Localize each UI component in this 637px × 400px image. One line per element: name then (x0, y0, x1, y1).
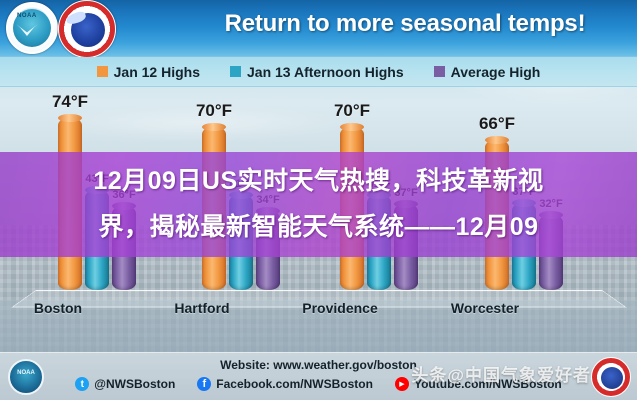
weather-graphic: NOAA Return to more seasonal temps! Jan … (0, 0, 637, 400)
legend-label: Average High (451, 64, 541, 80)
axis-label-boston: Boston (34, 300, 82, 316)
watermark: 头条@中国气象爱好者 (411, 361, 591, 386)
noaa-logo-text: NOAA (17, 13, 37, 20)
bar-cap (485, 136, 509, 144)
bar-value: 66°F (479, 114, 515, 134)
nws-logo (58, 0, 116, 58)
facebook-icon (197, 377, 211, 391)
header-banner: NOAA Return to more seasonal temps! (0, 0, 637, 57)
bar-cap (202, 123, 226, 131)
axis-label-hartford: Hartford (174, 300, 229, 316)
social-link-twitter[interactable]: @NWSBoston (75, 377, 175, 391)
legend-swatch-icon (230, 66, 241, 77)
bar-value: 70°F (196, 101, 232, 121)
legend-swatch-icon (434, 66, 445, 77)
axis-label-worcester: Worcester (451, 300, 519, 316)
bar-value: 70°F (334, 101, 370, 121)
overlay-headline-line2: 界，揭秘最新智能天气系统——12月09 (0, 207, 637, 243)
bar-value: 74°F (52, 92, 88, 112)
legend-label: Jan 13 Afternoon Highs (247, 64, 404, 80)
noaa-logo: NOAA (6, 2, 58, 54)
chart-legend: Jan 12 Highs Jan 13 Afternoon Highs Aver… (0, 57, 637, 87)
axis-label-providence: Providence (302, 300, 377, 316)
header-title: Return to more seasonal temps! (190, 10, 620, 38)
social-label: Facebook.com/NWSBoston (216, 377, 373, 391)
social-label: @NWSBoston (94, 377, 175, 391)
legend-item-average: Average High (434, 64, 541, 80)
social-link-facebook[interactable]: Facebook.com/NWSBoston (197, 377, 373, 391)
twitter-icon (75, 377, 89, 391)
legend-label: Jan 12 Highs (114, 64, 200, 80)
bar-cap (58, 114, 82, 122)
chart-baseline (36, 290, 602, 291)
youtube-icon (395, 377, 409, 391)
legend-swatch-icon (97, 66, 108, 77)
overlay-headline-line1: 12月09日US实时天气热搜，科技革新视 (0, 161, 637, 197)
legend-item-jan13: Jan 13 Afternoon Highs (230, 64, 404, 80)
legend-item-jan12: Jan 12 Highs (97, 64, 200, 80)
bar-cap (340, 123, 364, 131)
